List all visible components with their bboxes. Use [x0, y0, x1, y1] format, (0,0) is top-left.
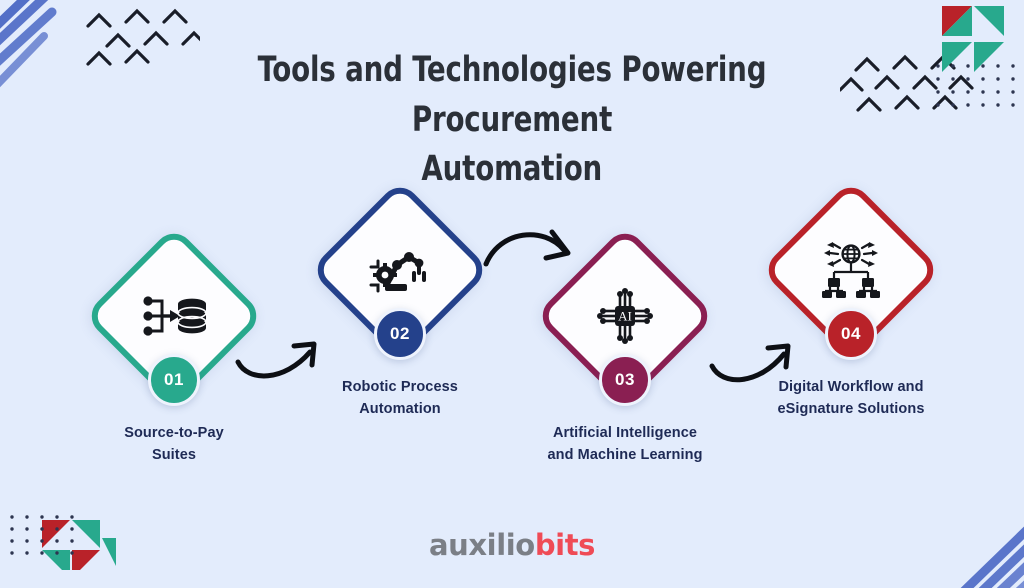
step-caption-01-line2: Suites — [67, 444, 282, 466]
step-caption-03: Artificial Intelligence and Machine Lear… — [518, 422, 733, 467]
page-title: Tools and Technologies Powering Procurem… — [142, 46, 882, 195]
step-number-badge-03: 03 — [599, 354, 651, 406]
triangles-top-right-icon — [920, 2, 1006, 78]
infographic-canvas: Tools and Technologies Powering Procurem… — [0, 0, 1024, 576]
brush-strokes-bottom-right-icon — [930, 483, 1024, 588]
step-caption-02: Robotic Process Automation — [293, 376, 508, 421]
step-number-badge-04: 04 — [825, 308, 877, 360]
step-diamond-03: AI — [561, 252, 689, 380]
brush-strokes-top-left-icon — [0, 0, 102, 105]
triangles-bottom-left-icon — [38, 510, 116, 570]
step-caption-04-line2: eSignature Solutions — [744, 398, 959, 420]
svg-text:AI: AI — [618, 309, 632, 324]
step-caption-04-line1: Digital Workflow and — [744, 376, 959, 398]
step-caption-01: Source-to-Pay Suites — [67, 422, 282, 467]
step-diamond-04: 04 — [787, 206, 915, 334]
step-caption-02-line2: Automation — [293, 398, 508, 420]
step-card-03[interactable]: AI — [561, 252, 689, 380]
step-card-04[interactable]: 04 Digital Workflow and eSignature Solut… — [787, 206, 915, 334]
brand-logo-part1: auxilio — [429, 528, 535, 562]
step-diamond-02: 02 — [336, 206, 464, 334]
brand-logo-part2: bits — [535, 528, 595, 562]
brand-logo: auxiliobits — [429, 528, 595, 562]
page-title-line1: Tools and Technologies Powering Procurem… — [258, 50, 767, 140]
step-number-badge-02: 02 — [374, 308, 426, 360]
step-caption-03-line1: Artificial Intelligence — [518, 422, 733, 444]
step-caption-02-line1: Robotic Process — [293, 376, 508, 398]
dot-grid-bottom-left-icon — [6, 512, 90, 564]
step-diamond-01: 01 — [110, 252, 238, 380]
step-number-badge-01: 01 — [148, 354, 200, 406]
page-title-line2: Automation — [422, 149, 603, 189]
step-card-01[interactable]: 01 Source-to-Pay Suites — [110, 252, 238, 380]
dot-grid-top-right-icon — [932, 60, 1016, 118]
step-caption-03-line2: and Machine Learning — [518, 444, 733, 466]
step-caption-01-line1: Source-to-Pay — [67, 422, 282, 444]
step-caption-04: Digital Workflow and eSignature Solution… — [744, 376, 959, 421]
step-card-02[interactable]: 02 Robotic Process Automation — [336, 206, 464, 334]
